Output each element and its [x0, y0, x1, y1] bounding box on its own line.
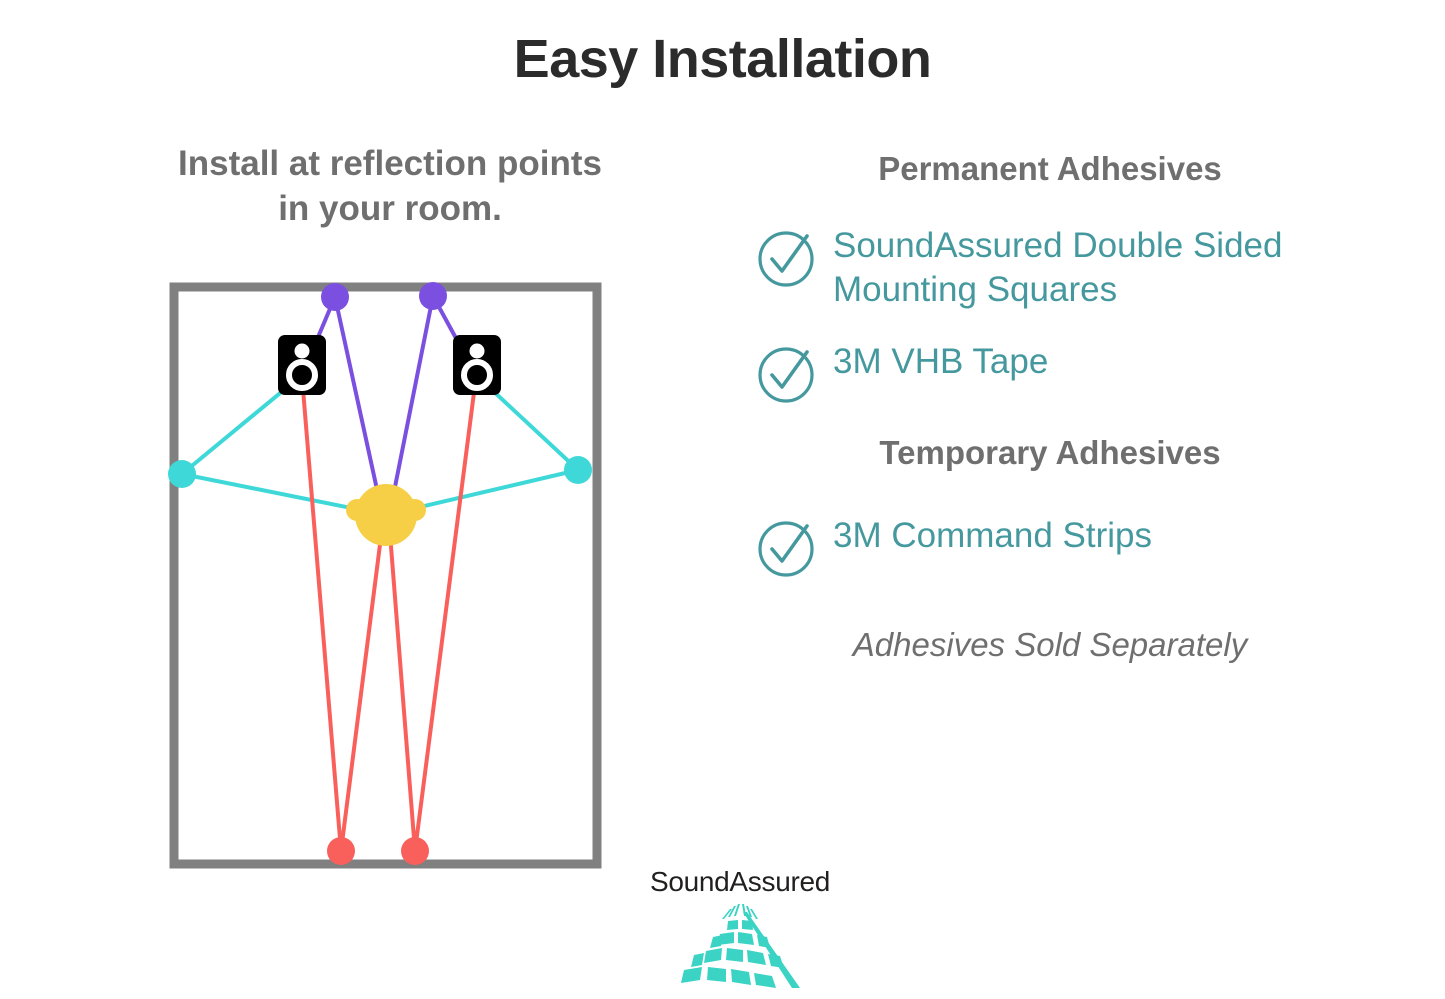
list-item: 3M VHB Tape [755, 338, 1355, 404]
adhesives-panel: Permanent Adhesives SoundAssured Double … [745, 150, 1355, 664]
reflection-points-room-diagram [150, 265, 620, 885]
list-item-label: 3M Command Strips [833, 512, 1152, 558]
temporary-adhesives-heading: Temporary Adhesives [745, 434, 1355, 472]
front-wall-reflection-point-right [419, 282, 447, 310]
room-diagram-caption: Install at reflection points in your roo… [110, 142, 670, 232]
speaker-left [278, 335, 326, 395]
temporary-adhesives-list: 3M Command Strips [745, 512, 1355, 578]
soundassured-pyramid-icon [620, 898, 860, 990]
list-item-label: SoundAssured Double Sided Mounting Squar… [833, 222, 1355, 312]
check-circle-icon [755, 342, 817, 404]
rear-wall-reflection-point-left [327, 837, 355, 865]
check-circle-icon [755, 516, 817, 578]
room-walls [174, 287, 597, 864]
brand-wordmark: SoundAssured [620, 868, 860, 896]
speaker-right [453, 335, 501, 395]
check-circle-icon [755, 226, 817, 288]
rear-wall-reflection-point-right [401, 837, 429, 865]
page-title: Easy Installation [0, 28, 1445, 90]
brand-logo: SoundAssured [620, 868, 860, 993]
list-item-label: 3M VHB Tape [833, 338, 1048, 384]
list-item: 3M Command Strips [755, 512, 1355, 578]
side-wall-reflection-point-right [564, 456, 592, 484]
front-wall-reflection-point-left [321, 283, 349, 311]
list-item: SoundAssured Double Sided Mounting Squar… [755, 222, 1355, 312]
permanent-adhesives-heading: Permanent Adhesives [745, 150, 1355, 188]
caption-line-2: in your room. [110, 187, 670, 232]
infographic-page: Easy Installation Install at reflection … [0, 0, 1445, 999]
caption-line-1: Install at reflection points [110, 142, 670, 187]
permanent-adhesives-list: SoundAssured Double Sided Mounting Squar… [745, 222, 1355, 404]
side-wall-reflection-point-left [168, 460, 196, 488]
adhesives-disclaimer: Adhesives Sold Separately [745, 626, 1355, 664]
